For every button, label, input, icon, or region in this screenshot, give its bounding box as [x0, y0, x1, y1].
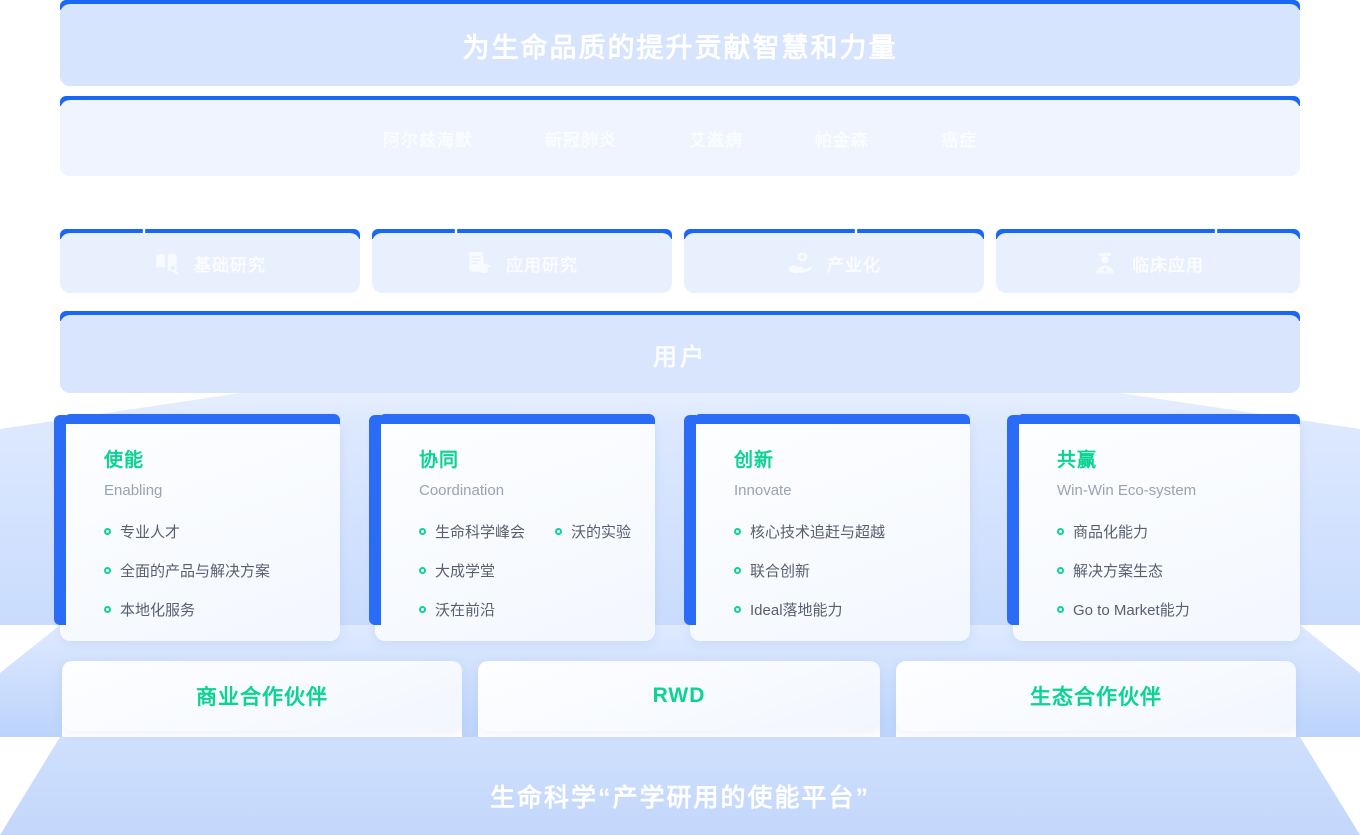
pillar-item-label: 本地化服务	[120, 599, 195, 620]
pillar-item-label: 生命科学峰会	[435, 521, 525, 542]
list-item: 沃在前沿	[419, 599, 495, 620]
disease-item[interactable]: 阿尔兹海默	[383, 126, 473, 151]
partner-box-ecosystem[interactable]: 生态合作伙伴	[896, 661, 1296, 731]
list-item: 生命科学峰会	[419, 521, 525, 542]
disease-item[interactable]: 艾滋病	[689, 126, 743, 151]
list-item: 本地化服务	[104, 599, 195, 620]
list-item: Go to Market能力	[1057, 599, 1190, 620]
pillar-item-label: 商品化能力	[1073, 521, 1148, 542]
pillar-item-row: 专业人才	[104, 521, 340, 542]
bullet-icon	[419, 567, 426, 574]
pillar-item-row: Ideal落地能力	[734, 599, 970, 620]
dashed-connector-tree	[0, 176, 1360, 238]
pillar-item-row: 生命科学峰会 沃的实验	[419, 521, 655, 542]
pillar-card-enabling[interactable]: 使能 Enabling 专业人才 全面的产品与解决方案 本地化服务	[60, 419, 340, 641]
disease-banner: 阿尔兹海默 新冠肺炎 艾滋病 帕金森 癌症	[60, 100, 1300, 176]
pillar-subtitle: Innovate	[734, 482, 970, 499]
pillar-item-label: Go to Market能力	[1073, 599, 1190, 620]
disease-item[interactable]: 新冠肺炎	[545, 126, 617, 151]
pillar-title: 共赢	[1057, 445, 1300, 472]
bullet-icon	[419, 606, 426, 613]
bullet-icon	[734, 528, 741, 535]
disease-item[interactable]: 癌症	[941, 126, 977, 151]
book-search-icon	[154, 250, 180, 276]
research-stage-box-applied[interactable]: 应用研究	[372, 233, 672, 293]
research-stage-box-industrialization[interactable]: 产业化	[684, 233, 984, 293]
pillar-title: 使能	[104, 445, 340, 472]
bullet-icon	[104, 528, 111, 535]
pillar-item-label: Ideal落地能力	[750, 599, 843, 620]
pillar-item-label: 专业人才	[120, 521, 180, 542]
users-banner: 用户	[60, 315, 1300, 393]
footer-caption: 生命科学“产学研用的使能平台”	[490, 778, 870, 814]
list-item: 核心技术追赶与超越	[734, 521, 885, 542]
pillar-card-coordination[interactable]: 协同 Coordination 生命科学峰会 沃的实验 大成学堂	[375, 419, 655, 641]
bullet-icon	[734, 567, 741, 574]
list-item: 商品化能力	[1057, 521, 1148, 542]
partner-label: 商业合作伙伴	[196, 681, 328, 711]
bullet-icon	[555, 528, 562, 535]
pillar-item-label: 全面的产品与解决方案	[120, 560, 270, 581]
doctor-icon	[1092, 250, 1118, 276]
users-label: 用户	[653, 337, 707, 372]
list-item: 全面的产品与解决方案	[104, 560, 270, 581]
pillar-item-row: 沃在前沿	[419, 599, 655, 620]
pillar-item-row: 核心技术追赶与超越	[734, 521, 970, 542]
pillar-item-label: 核心技术追赶与超越	[750, 521, 885, 542]
diagram-canvas: 为生命品质的提升贡献智慧和力量 阿尔兹海默 新冠肺炎 艾滋病 帕金森 癌症	[0, 0, 1360, 835]
research-stage-label: 临床应用	[1132, 251, 1204, 276]
bullet-icon	[1057, 606, 1064, 613]
list-item: 联合创新	[734, 560, 810, 581]
pillar-item-list: 核心技术追赶与超越 联合创新 Ideal落地能力	[734, 521, 970, 620]
pillar-item-row: 大成学堂	[419, 560, 655, 581]
mission-title: 为生命品质的提升贡献智慧和力量	[463, 26, 898, 65]
list-item: 沃的实验	[555, 521, 631, 542]
partner-box-business[interactable]: 商业合作伙伴	[62, 661, 462, 731]
pillar-title: 协同	[419, 445, 655, 472]
research-stage-label: 应用研究	[506, 251, 578, 276]
partner-label: RWD	[653, 684, 706, 708]
pillar-item-row: 全面的产品与解决方案	[104, 560, 340, 581]
document-graduation-icon	[466, 250, 492, 276]
bullet-icon	[734, 606, 741, 613]
bullet-icon	[104, 606, 111, 613]
pillar-card-winwin[interactable]: 共赢 Win-Win Eco-system 商品化能力 解决方案生态 Go to…	[1013, 419, 1300, 641]
pillar-card-innovate[interactable]: 创新 Innovate 核心技术追赶与超越 联合创新 Ideal落地能力	[690, 419, 970, 641]
list-item: Ideal落地能力	[734, 599, 843, 620]
list-item: 解决方案生态	[1057, 560, 1163, 581]
research-stage-box-clinical[interactable]: 临床应用	[996, 233, 1300, 293]
pillar-item-row: 解决方案生态	[1057, 560, 1300, 581]
pillar-item-label: 沃的实验	[571, 521, 631, 542]
pillar-item-label: 解决方案生态	[1073, 560, 1163, 581]
research-stage-box-basic[interactable]: 基础研究	[60, 233, 360, 293]
bullet-icon	[419, 528, 426, 535]
pillar-item-row: 本地化服务	[104, 599, 340, 620]
disease-item[interactable]: 帕金森	[815, 126, 869, 151]
mission-banner: 为生命品质的提升贡献智慧和力量	[60, 4, 1300, 86]
hand-gear-icon	[787, 250, 813, 276]
pillar-item-list: 商品化能力 解决方案生态 Go to Market能力	[1057, 521, 1300, 620]
list-item: 大成学堂	[419, 560, 495, 581]
pillar-item-list: 生命科学峰会 沃的实验 大成学堂 沃在前沿	[419, 521, 655, 620]
bullet-icon	[1057, 567, 1064, 574]
pillar-item-label: 大成学堂	[435, 560, 495, 581]
partner-label: 生态合作伙伴	[1030, 681, 1162, 711]
pillar-subtitle: Win-Win Eco-system	[1057, 482, 1300, 499]
bullet-icon	[104, 567, 111, 574]
footer-caption-area: 生命科学“产学研用的使能平台”	[0, 772, 1360, 820]
pillar-subtitle: Enabling	[104, 482, 340, 499]
research-stage-label: 基础研究	[194, 251, 266, 276]
pillar-item-label: 联合创新	[750, 560, 810, 581]
pillar-item-row: 联合创新	[734, 560, 970, 581]
disease-list: 阿尔兹海默 新冠肺炎 艾滋病 帕金森 癌症	[60, 100, 1300, 176]
partner-box-rwd[interactable]: RWD	[478, 661, 880, 731]
pillar-item-row: 商品化能力	[1057, 521, 1300, 542]
pillar-item-label: 沃在前沿	[435, 599, 495, 620]
pillar-title: 创新	[734, 445, 970, 472]
list-item: 专业人才	[104, 521, 180, 542]
pillar-item-list: 专业人才 全面的产品与解决方案 本地化服务	[104, 521, 340, 620]
research-stage-label: 产业化	[827, 251, 881, 276]
bullet-icon	[1057, 528, 1064, 535]
pillar-item-row: Go to Market能力	[1057, 599, 1300, 620]
pillar-subtitle: Coordination	[419, 482, 655, 499]
